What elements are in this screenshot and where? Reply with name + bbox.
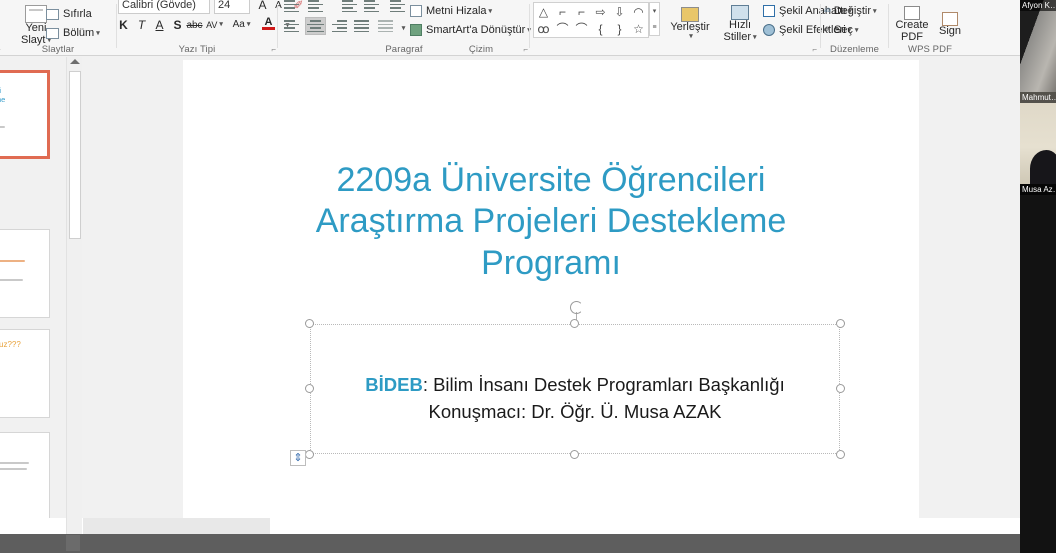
new-slide-icon: [25, 5, 47, 23]
section-button[interactable]: Bölüm▾: [46, 24, 112, 42]
increase-indent-button[interactable]: [364, 0, 379, 13]
bold-button[interactable]: K: [115, 16, 132, 33]
shape-curve-icon[interactable]: ⌒: [553, 20, 572, 37]
arrange-button[interactable]: Yerleştir ▾: [663, 2, 717, 46]
align-text-button[interactable]: Metni Hizala▾: [410, 2, 492, 19]
replace-icon: ᵃᵇ: [824, 6, 831, 16]
bullets-button[interactable]: [284, 0, 299, 13]
slide-title-line-3: Programı: [223, 243, 879, 284]
sign-pdf-button[interactable]: Sign: [932, 2, 968, 48]
participant-name-2: Mahmut…: [1020, 92, 1056, 103]
shapes-expand-icon[interactable]: ≡: [652, 24, 656, 31]
thumb-4-body-line: [0, 468, 27, 470]
line-spacing-button[interactable]: [390, 0, 405, 13]
bideb-highlight: BİDEB: [365, 374, 423, 395]
thumbnail-pane-scrollbar[interactable]: [66, 57, 82, 534]
ribbon: Yeni Slayt▾ Sıfırla Bölüm▾ Slaytlar ⌐ Ca…: [0, 0, 1020, 56]
font-dialog-launcher[interactable]: ⌐: [271, 45, 276, 54]
selected-text-placeholder[interactable]: BİDEB: Bilim İnsanı Destek Programları B…: [310, 324, 840, 454]
character-spacing-button[interactable]: AV▾: [206, 16, 223, 33]
quick-styles-button[interactable]: Hızlı Stiller▾: [717, 2, 763, 46]
slide-title-line-2: Araştırma Projeleri Destekleme: [223, 201, 879, 242]
shapes-gallery[interactable]: △ ⌐ ⌐ ⇨ ⇩ ◠ ꝏ ⌒ ⌒ { } ☆: [533, 2, 649, 38]
participant-name-3: Musa Az…: [1020, 184, 1056, 195]
participant-2-silhouette: [1030, 150, 1056, 184]
thumb-2-accent-line: [0, 260, 25, 262]
shape-arc-icon[interactable]: ⌒: [572, 20, 591, 37]
shape-elbow-arrow-icon[interactable]: ⌐: [572, 3, 591, 20]
participant-name-1: Afyon K…: [1020, 0, 1056, 11]
select-button[interactable]: ⌖ Seç▾: [824, 21, 858, 38]
ribbon-group-wps-pdf: Create PDF Sign WPS PDF: [890, 0, 970, 56]
reset-label: Sıfırla: [63, 8, 92, 20]
align-right-button[interactable]: [332, 20, 347, 33]
shape-outline-icon: [763, 5, 775, 17]
convert-smartart-label: SmartArt'a Dönüştür▾: [426, 24, 531, 36]
shape-star-icon[interactable]: ☆: [629, 20, 648, 37]
numbering-button[interactable]: [308, 0, 323, 13]
powerpoint-window: Yeni Slayt▾ Sıfırla Bölüm▾ Slaytlar ⌐ Ca…: [0, 0, 1056, 553]
slide-thumbnail-4[interactable]: sidir: [0, 432, 50, 521]
group-separator-3: [529, 4, 530, 48]
font-name-input[interactable]: Calibri (Gövde): [118, 0, 210, 14]
grow-font-button[interactable]: A: [254, 0, 271, 13]
meeting-video-panel[interactable]: Afyon K… Mahmut… Musa Az…: [1020, 0, 1056, 553]
thumb-4-body-line: [0, 462, 29, 464]
columns-dropdown[interactable]: ▾: [394, 20, 411, 37]
convert-smartart-button[interactable]: SmartArt'a Dönüştür▾: [410, 21, 531, 38]
drawing-dialog-launcher[interactable]: ⌐: [812, 45, 817, 54]
justify-button[interactable]: [354, 20, 369, 33]
font-color-button[interactable]: A: [260, 15, 277, 32]
textbox-line-1: BİDEB: Bilim İnsanı Destek Programları B…: [310, 372, 840, 399]
shapes-scroll-controls[interactable]: ▾ ≡: [649, 2, 660, 36]
reset-button[interactable]: Sıfırla: [46, 5, 108, 23]
select-cursor-icon: ⌖: [824, 23, 830, 36]
group-label-wps-pdf: WPS PDF: [890, 44, 970, 55]
slide-title-line-1: 2209a Üniversite Öğrencileri: [223, 160, 879, 201]
rotate-handle[interactable]: [570, 301, 583, 314]
resize-handle-top-center[interactable]: [570, 319, 579, 328]
reset-icon: [46, 9, 59, 20]
shape-pentagon-icon[interactable]: ◠: [629, 3, 648, 20]
create-pdf-icon: [904, 6, 920, 20]
section-icon: [46, 28, 59, 39]
create-pdf-label-2: PDF: [901, 32, 923, 44]
change-case-button[interactable]: Aa▾: [233, 16, 250, 33]
group-separator-2: [277, 4, 278, 48]
resize-handle-middle-right[interactable]: [836, 384, 845, 393]
scroll-up-arrow-icon[interactable]: [70, 59, 80, 64]
slide-thumbnail-1[interactable]: nceleri tekleme: [0, 70, 50, 159]
align-left-button[interactable]: [284, 20, 299, 33]
smartart-icon: [410, 24, 422, 36]
ribbon-group-slides: Yeni Slayt▾ Sıfırla Bölüm▾ Slaytlar ⌐: [0, 0, 116, 56]
underline-button[interactable]: A: [151, 16, 168, 33]
align-text-icon: [410, 5, 422, 17]
arrange-icon: [681, 7, 699, 22]
status-bar-nub: [66, 535, 80, 551]
thumb-2-body-line: [0, 279, 23, 281]
sign-label: Sign: [939, 26, 961, 38]
ribbon-group-editing: ᵃᵇ Değiştir▾ ⌖ Seç▾ Düzenleme: [822, 0, 887, 56]
sign-icon: [942, 12, 958, 26]
shape-triangle-icon[interactable]: △: [534, 3, 553, 20]
group-label-drawing: Çizim: [381, 44, 581, 55]
slide-thumbnail-3[interactable]: musunuz???: [0, 329, 50, 418]
resize-handle-top-right[interactable]: [836, 319, 845, 328]
align-center-button[interactable]: [306, 18, 325, 34]
ribbon-group-font: Calibri (Gövde) 24 A A ✐ K T A S abc AV▾…: [118, 0, 276, 56]
shape-elbow-icon[interactable]: ⌐: [553, 3, 572, 20]
video-tile-2[interactable]: Mahmut…: [1020, 92, 1056, 184]
resize-handle-bottom-center[interactable]: [570, 450, 579, 459]
slide-thumbnail-2[interactable]: uz???: [0, 229, 50, 318]
ribbon-group-drawing: △ ⌐ ⌐ ⇨ ⇩ ◠ ꝏ ⌒ ⌒ { } ☆ ▾ ≡ Yerleştir ▾: [531, 0, 819, 56]
group-label-slides: Slaytlar: [0, 44, 116, 55]
shape-right-brace-icon[interactable]: }: [610, 20, 629, 37]
textbox-content[interactable]: BİDEB: Bilim İnsanı Destek Programları B…: [310, 372, 840, 426]
replace-label: Değiştir▾: [834, 5, 877, 17]
slide-title-placeholder[interactable]: 2209a Üniversite Öğrencileri Araştırma P…: [223, 160, 879, 284]
current-slide[interactable]: 2209a Üniversite Öğrencileri Araştırma P…: [183, 60, 919, 525]
pane-gap-left: [66, 518, 82, 534]
pane-bottom-gap: [0, 518, 1020, 534]
group-separator-4: [820, 4, 821, 48]
resize-handle-bottom-right[interactable]: [836, 450, 845, 459]
video-tile-3[interactable]: Musa Az…: [1020, 184, 1056, 553]
create-pdf-button[interactable]: Create PDF: [892, 2, 932, 48]
replace-button[interactable]: ᵃᵇ Değiştir▾: [824, 2, 877, 19]
textbox-line-2: Konuşmacı: Dr. Öğr. Ü. Musa AZAK: [310, 399, 840, 426]
shape-right-arrow-icon[interactable]: ⇨: [591, 3, 610, 20]
pane-gap-strip: [83, 518, 270, 534]
font-size-input[interactable]: 24: [214, 0, 250, 14]
thumb-3-title: musunuz???: [0, 340, 49, 349]
thumb-2-title: uz???: [0, 238, 47, 247]
text-shadow-button[interactable]: S: [169, 16, 186, 33]
thumb-4-title: sidir: [0, 443, 47, 452]
shape-left-brace-icon[interactable]: {: [591, 20, 610, 37]
strikethrough-button[interactable]: abc: [186, 17, 203, 34]
group-separator-5: [888, 4, 889, 48]
shape-freeform-icon[interactable]: ꝏ: [534, 20, 553, 37]
thumb-1-title: nceleri tekleme: [0, 87, 49, 104]
select-label: Seç▾: [834, 24, 858, 36]
group-label-editing: Düzenleme: [822, 44, 887, 55]
autofit-options-icon[interactable]: ⇕: [290, 450, 306, 466]
group-label-font: Yazı Tipi: [118, 44, 276, 55]
section-label: Bölüm▾: [63, 27, 100, 39]
align-text-label: Metni Hizala▾: [426, 5, 492, 17]
thumb-1-body-line: [0, 126, 5, 128]
quick-styles-icon: [731, 5, 749, 20]
decrease-indent-button[interactable]: [342, 0, 357, 13]
italic-button[interactable]: T: [133, 16, 150, 33]
shape-effects-icon: [763, 24, 775, 36]
columns-button[interactable]: [378, 20, 393, 33]
shape-down-arrow-icon[interactable]: ⇩: [610, 3, 629, 20]
shapes-scroll-up-icon[interactable]: ▾: [653, 7, 657, 15]
bideb-rest: : Bilim İnsanı Destek Programları Başkan…: [423, 374, 785, 395]
resize-handle-top-left[interactable]: [305, 319, 314, 328]
resize-handle-middle-left[interactable]: [305, 384, 314, 393]
quick-styles-label-2: Stiller▾: [723, 32, 756, 44]
slides-dialog-launcher[interactable]: ⌐: [0, 45, 1, 54]
resize-handle-bottom-left[interactable]: [305, 450, 314, 459]
scrollbar-thumb[interactable]: [69, 71, 81, 239]
video-tile-1[interactable]: Afyon K…: [1020, 0, 1056, 92]
status-bar: [0, 534, 1020, 553]
slide-canvas-area: 2209a Üniversite Öğrencileri Araştırma P…: [82, 57, 1020, 534]
